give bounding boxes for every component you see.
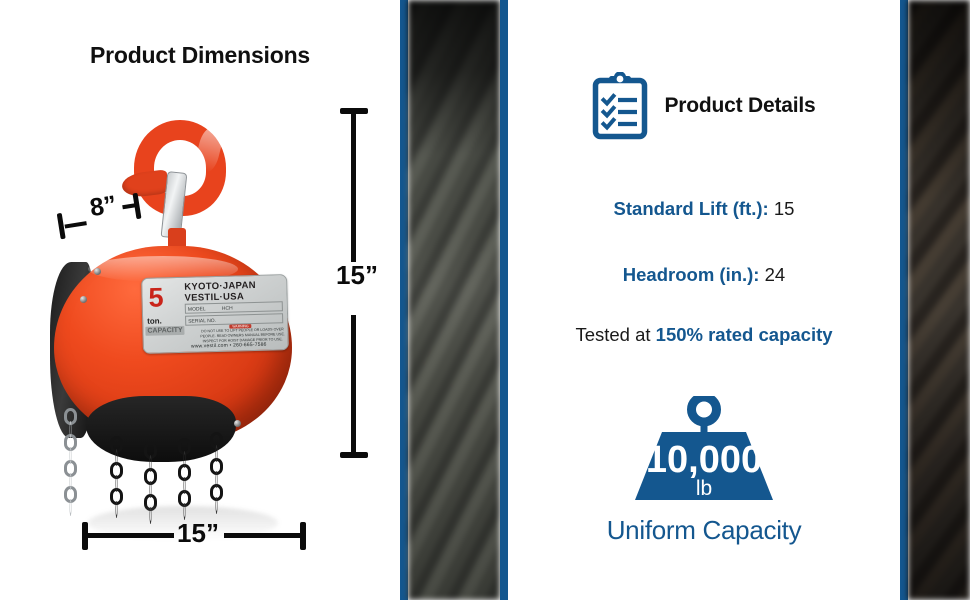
product-dimensions-panel: Product Dimensions 5 ton. CAPACITY KYOTO… xyxy=(0,0,400,600)
detail-standard-lift-label: Standard Lift (ft.): xyxy=(614,198,769,219)
nameplate-model-field: MODEL HCH xyxy=(185,301,283,314)
dimension-cap-bottom xyxy=(340,452,368,458)
capacity-unit: lb xyxy=(696,477,712,500)
nameplate-website: www.vestil.com • 260-665-7586 xyxy=(170,341,288,350)
product-details-header: Product Details xyxy=(508,72,900,140)
warehouse-photo xyxy=(908,0,970,600)
nameplate-brand: KYOTO·JAPAN VESTIL·USA xyxy=(184,281,256,304)
detail-tested-highlight: 150% rated capacity xyxy=(656,324,833,345)
dimension-height: 15” xyxy=(330,100,400,460)
detail-tested-capacity: Tested at 150% rated capacity xyxy=(508,324,900,346)
capacity-amount: 10,000 xyxy=(646,439,762,481)
detail-tested-prefix: Tested at xyxy=(575,324,655,345)
detail-standard-lift: Standard Lift (ft.): 15 xyxy=(508,198,900,220)
product-details-panel: Product Details Standard Lift (ft.): 15 … xyxy=(508,0,900,600)
dimension-width: 15” xyxy=(72,518,316,554)
weight-icon: 10,000 lb xyxy=(508,396,900,513)
chain xyxy=(210,432,223,510)
chain xyxy=(178,438,191,516)
dimension-stem-bottom xyxy=(351,315,356,455)
chain xyxy=(110,436,123,514)
product-details-title: Product Details xyxy=(664,94,815,118)
dimension-height-label: 15” xyxy=(324,260,390,291)
dimension-cap-right xyxy=(133,193,142,219)
detail-headroom: Headroom (in.): 24 xyxy=(508,264,900,286)
uniform-capacity-caption: Uniform Capacity xyxy=(508,515,900,546)
uniform-capacity-block: 10,000 lb Uniform Capacity xyxy=(508,396,900,546)
bolt xyxy=(94,268,101,275)
warehouse-photo-strip-left xyxy=(400,0,508,600)
bolt xyxy=(80,296,87,303)
nameplate-model-value: HCH xyxy=(222,305,233,313)
dimension-hook-opening: 8” xyxy=(50,196,162,240)
product-nameplate: 5 ton. CAPACITY KYOTO·JAPAN VESTIL·USA M… xyxy=(141,274,289,354)
warehouse-photo-strip-right xyxy=(900,0,970,600)
chain xyxy=(64,408,77,512)
detail-standard-lift-value: 15 xyxy=(774,198,795,219)
dimension-cap-right xyxy=(300,522,306,550)
nameplate-model-label: MODEL xyxy=(188,306,206,312)
dimension-bar-left xyxy=(88,533,174,538)
chain-hoist-illustration: 5 ton. CAPACITY KYOTO·JAPAN VESTIL·USA M… xyxy=(48,120,308,520)
dimension-width-label: 15” xyxy=(170,518,226,549)
nameplate-capacity-word: CAPACITY xyxy=(145,326,184,336)
page-title: Product Dimensions xyxy=(0,42,400,69)
dimension-bar-right xyxy=(224,533,302,538)
detail-headroom-label: Headroom (in.): xyxy=(623,264,760,285)
nameplate-capacity-unit: ton. xyxy=(147,316,162,325)
bolt xyxy=(234,420,241,427)
nameplate-capacity-number: 5 xyxy=(148,284,164,311)
dimension-stem-top xyxy=(351,112,356,262)
warehouse-photo xyxy=(408,0,500,600)
detail-headroom-value: 24 xyxy=(765,264,786,285)
divider-rule xyxy=(500,0,508,600)
divider-rule xyxy=(900,0,908,600)
nameplate-serial-label: SERIAL NO. xyxy=(188,318,216,325)
clipboard-checklist-icon xyxy=(592,72,648,140)
infographic-root: Product Dimensions 5 ton. CAPACITY KYOTO… xyxy=(0,0,970,600)
divider-rule xyxy=(400,0,408,600)
